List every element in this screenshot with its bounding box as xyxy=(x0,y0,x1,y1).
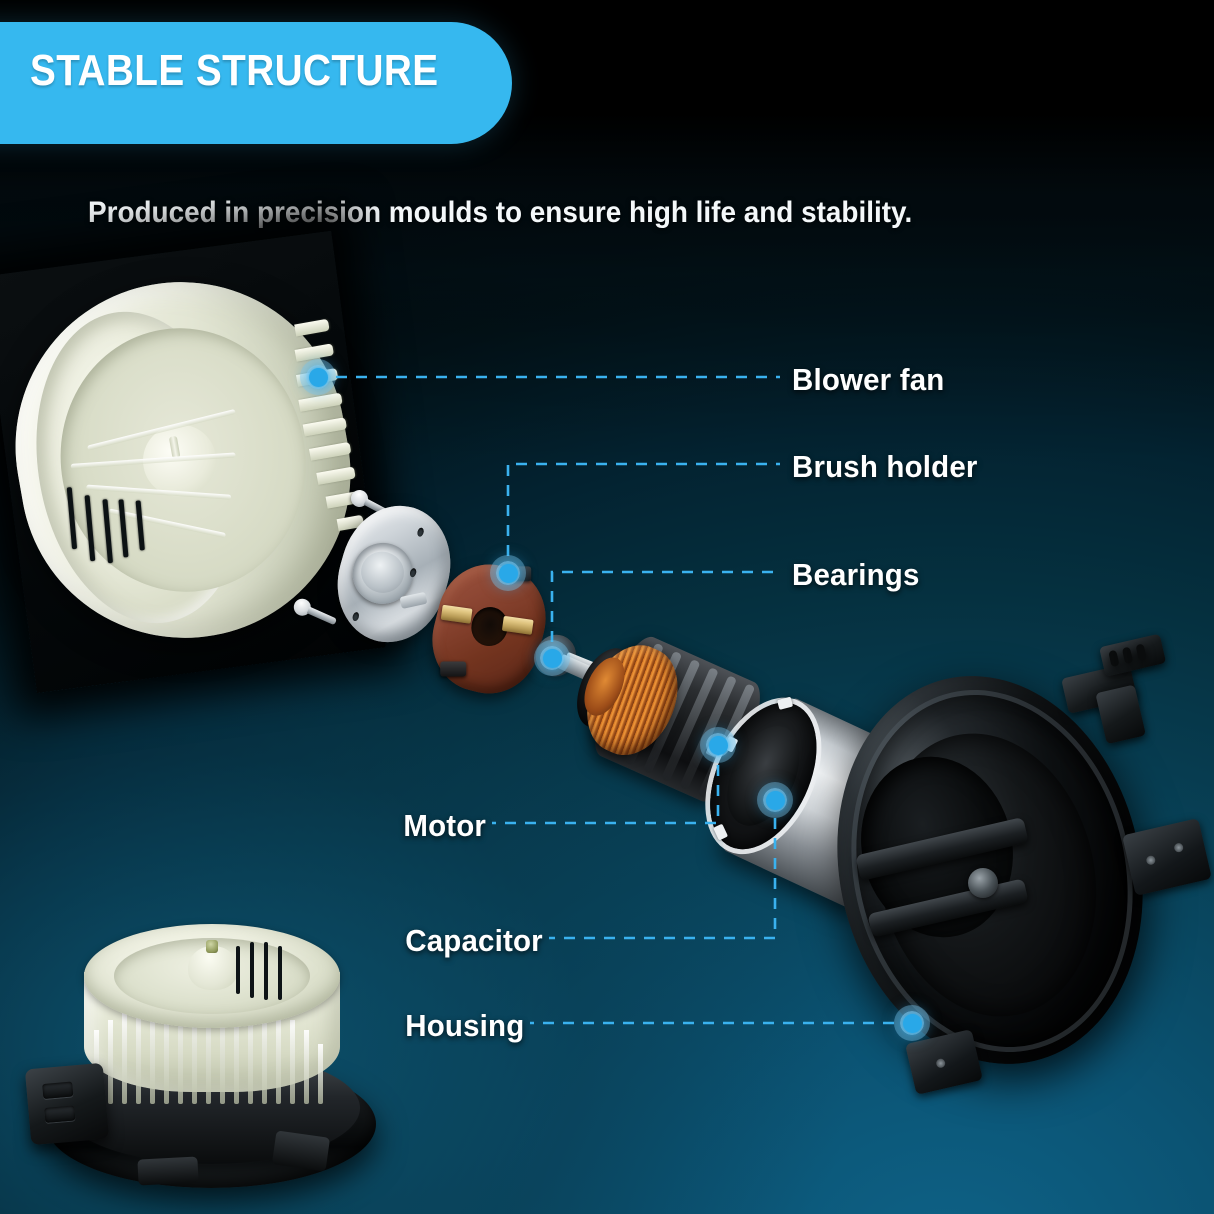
callout-dot-housing[interactable] xyxy=(894,1005,930,1041)
cage-vent-slot xyxy=(278,946,282,1000)
blower-mount-foot xyxy=(272,1130,330,1171)
connector-shell xyxy=(25,1063,109,1146)
cage-center-pin xyxy=(206,940,218,953)
mount-hole xyxy=(935,1058,946,1069)
brush-terminal xyxy=(440,662,466,677)
mount-hole xyxy=(1145,855,1156,866)
page-title: STABLE STRUCTURE xyxy=(30,46,439,96)
callout-dot-motor[interactable] xyxy=(700,727,736,763)
cage-fin xyxy=(122,1012,127,1104)
cage-fin xyxy=(318,1044,323,1104)
cage-fin xyxy=(276,1012,281,1104)
blower-fan-cage xyxy=(84,924,340,1104)
callout-label-housing: Housing xyxy=(405,1008,524,1044)
connector-pin-slot xyxy=(42,1081,73,1099)
blower-fan-wheel-image xyxy=(0,256,376,664)
callout-dot-blower-fan[interactable] xyxy=(300,359,336,395)
cage-fin xyxy=(290,1020,295,1104)
callout-dot-capacitor[interactable] xyxy=(757,782,793,818)
connector-pin-slot xyxy=(44,1105,75,1123)
cage-fin xyxy=(108,1020,113,1104)
assembled-blower-image xyxy=(28,912,384,1198)
callout-dot-brush-holder[interactable] xyxy=(490,555,526,591)
wiring-connector xyxy=(1056,633,1182,738)
callout-label-bearings: Bearings xyxy=(792,557,920,593)
cage-vent-slot xyxy=(236,946,240,994)
cage-vent-slot xyxy=(264,942,268,1000)
housing-mounting-tab xyxy=(1122,818,1212,896)
mount-hole xyxy=(1173,842,1184,853)
callout-label-motor: Motor xyxy=(403,808,486,844)
subtitle-text: Produced in precision moulds to ensure h… xyxy=(88,196,912,230)
callout-label-capacitor: Capacitor xyxy=(405,923,543,959)
cage-fin xyxy=(304,1030,309,1104)
housing-hub xyxy=(968,868,998,898)
blower-connector xyxy=(25,1063,109,1146)
blower-mount-foot xyxy=(137,1156,198,1185)
callout-label-blower-fan: Blower fan xyxy=(792,362,944,398)
housing-image xyxy=(828,640,1214,1110)
fan-blade-rib xyxy=(294,319,330,337)
connector-neck xyxy=(1095,685,1146,745)
cage-fin xyxy=(136,1006,141,1104)
cage-vent-slot xyxy=(250,942,254,998)
infographic-canvas: STABLE STRUCTURE Produced in precision m… xyxy=(0,0,1214,1214)
callout-label-brush-holder: Brush holder xyxy=(792,449,978,485)
callout-dot-bearings[interactable] xyxy=(534,640,570,676)
